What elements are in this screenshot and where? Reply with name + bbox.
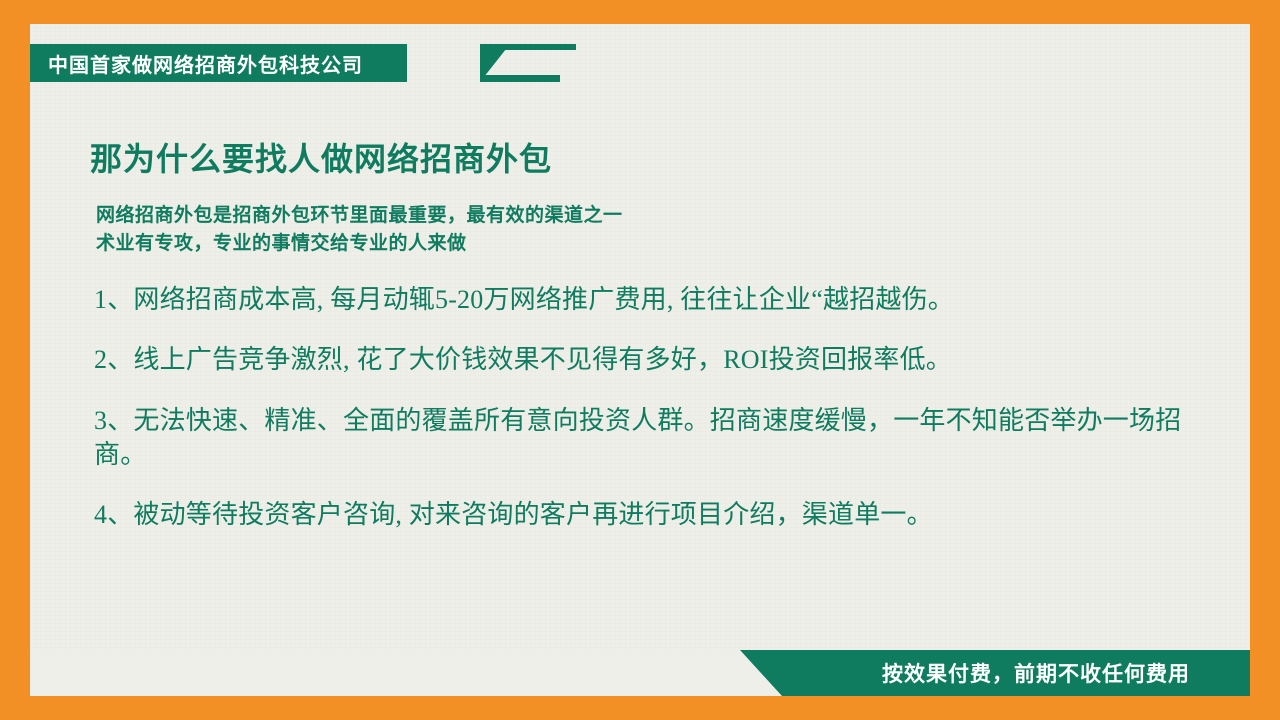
footer-bar: 按效果付费，前期不收任何费用: [30, 650, 1250, 696]
subtitle-line-1: 网络招商外包是招商外包环节里面最重要，最有效的渠道之一: [96, 202, 1222, 230]
header-ribbon: 中国首家做网络招商外包科技公司: [30, 44, 407, 82]
footer-notch-slant: [740, 650, 782, 696]
list-item: 4、被动等待投资客户咨询, 对来咨询的客户再进行项目介绍，渠道单一。: [94, 498, 1208, 532]
list-item: 2、线上广告竞争激烈, 花了大价钱效果不见得有多好，ROI投资回报率低。: [94, 343, 1208, 377]
slide-content: 那为什么要找人做网络招商外包 网络招商外包是招商外包环节里面最重要，最有效的渠道…: [62, 134, 1222, 559]
header-ribbon-label: 中国首家做网络招商外包科技公司: [48, 49, 363, 78]
subtitle-block: 网络招商外包是招商外包环节里面最重要，最有效的渠道之一 术业有专攻，专业的事情交…: [62, 202, 1222, 257]
list-item: 3、无法快速、精准、全面的覆盖所有意向投资人群。招商速度缓慢，一年不知能否举办一…: [94, 404, 1208, 473]
subtitle-line-2: 术业有专攻，专业的事情交给专业的人来做: [96, 230, 1222, 258]
header-ribbon-accent-top: [480, 44, 576, 50]
slide-page: 中国首家做网络招商外包科技公司 那为什么要找人做网络招商外包 网络招商外包是招商…: [30, 24, 1250, 696]
bullet-list: 1、网络招商成本高, 每月动辄5-20万网络推广费用, 往往让企业“越招越伤。 …: [62, 283, 1222, 533]
list-item: 1、网络招商成本高, 每月动辄5-20万网络推广费用, 往往让企业“越招越伤。: [94, 283, 1208, 317]
footer-label: 按效果付费，前期不收任何费用: [882, 650, 1190, 696]
slide-root: 中国首家做网络招商外包科技公司 那为什么要找人做网络招商外包 网络招商外包是招商…: [0, 0, 1280, 720]
page-title: 那为什么要找人做网络招商外包: [62, 134, 1222, 180]
header-ribbon-accent-bottom: [480, 75, 560, 82]
footer-notch: [30, 650, 740, 696]
